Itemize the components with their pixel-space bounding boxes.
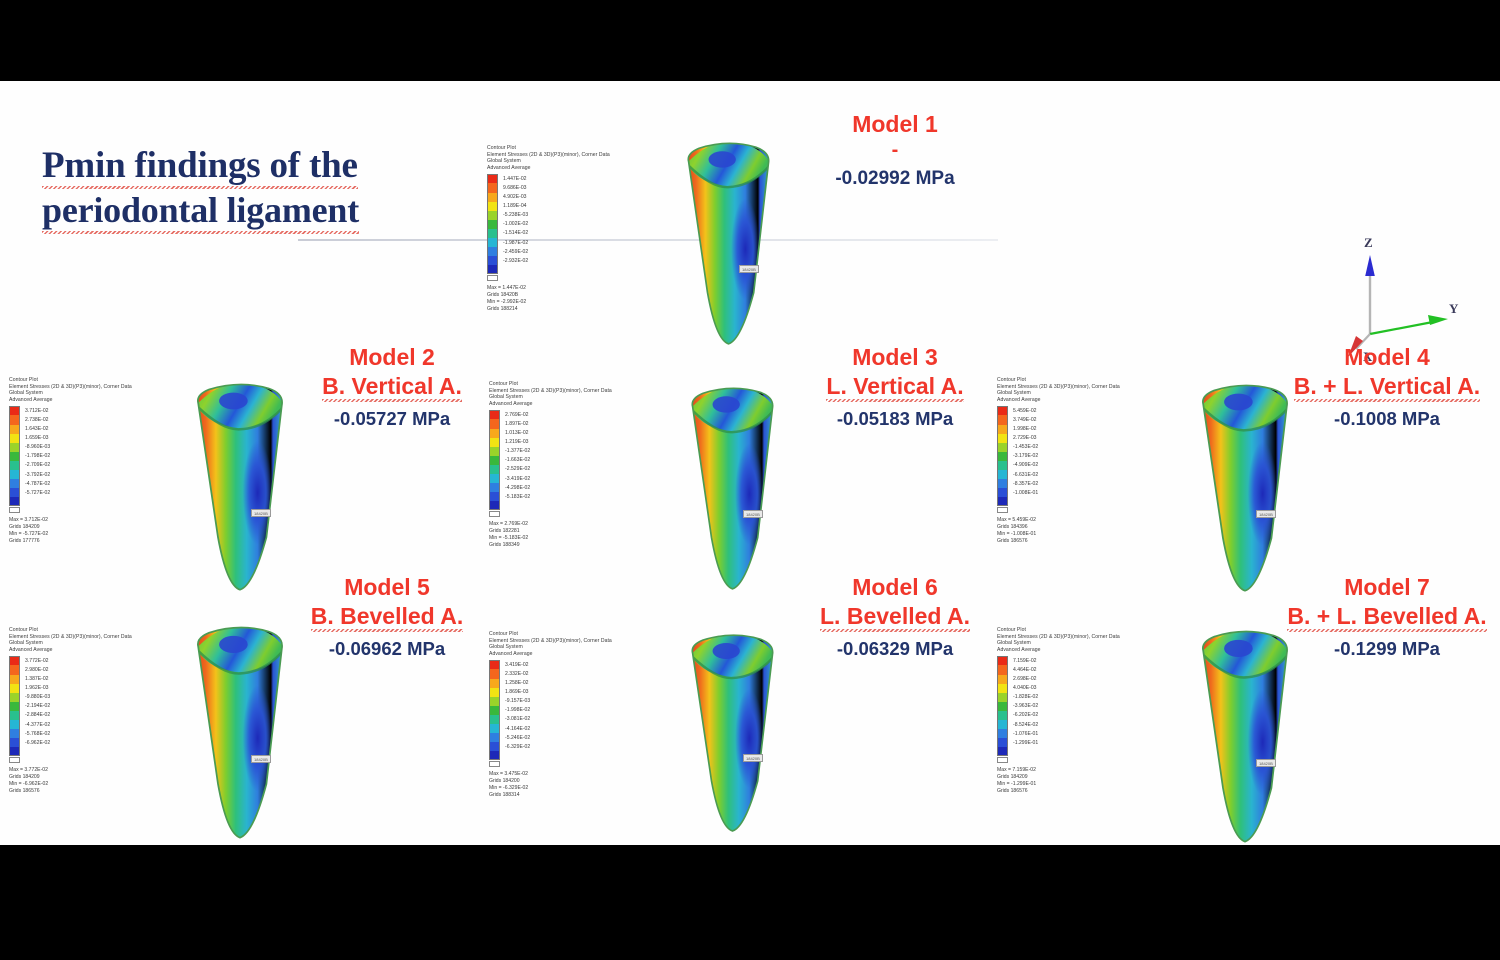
legend-max-grid: Grids 184209: [9, 774, 125, 781]
legend-value: -1.514E-02: [503, 230, 528, 236]
legend-swatch: [489, 474, 500, 483]
legend-swatch: [9, 729, 20, 738]
legend-scale-row: -4.164E-02: [489, 724, 605, 733]
legend-color-scale: 3.419E-02 2.332E-02 1.258E-02 1.869E-03 …: [489, 660, 605, 760]
legend-swatch: [487, 265, 498, 274]
tooth-contour-svg: [676, 139, 781, 349]
legend-value: -1.076E-01: [1013, 731, 1038, 737]
legend-swatch: [9, 665, 20, 674]
legend-header-advanced-average: Advanced Average: [997, 397, 1113, 404]
legend-value: -2.709E-02: [25, 462, 50, 468]
legend-value: -4.298E-02: [505, 485, 530, 491]
legend-swatch: [487, 174, 498, 183]
model-stress-value: -0.02992 MPa: [790, 166, 1000, 192]
legend-scale-row: -1.663E-02: [489, 456, 605, 465]
legend-scale-row: 1.447E-02: [487, 174, 603, 183]
legend-swatch: [9, 470, 20, 479]
tooth-min-node-tag: 18420B: [251, 509, 271, 517]
legend-value: 1.643E-02: [25, 426, 49, 432]
legend-swatch: [487, 220, 498, 229]
legend-min-grid: Grids 186576: [9, 788, 125, 795]
legend-min-grid: Grids 188214: [487, 306, 603, 313]
legend-header-advanced-average: Advanced Average: [489, 651, 605, 658]
legend-scale-row: -2.932E-02: [487, 256, 603, 265]
legend-value: -1.299E-01: [1013, 740, 1038, 746]
legend-swatch: [9, 452, 20, 461]
legend-value: -6.962E-02: [25, 740, 50, 746]
legend-min-value: Min = -1.299E-01: [997, 781, 1113, 788]
legend-header-element-stresses: Element Stresses (2D & 3D)(P3)(minor), C…: [997, 384, 1113, 391]
tooth-contour-model-1: 18420B: [676, 139, 781, 349]
legend-swatch: [9, 675, 20, 684]
legend-value: -3.179E-02: [1013, 453, 1038, 459]
legend-scale-row: 5.459E-02: [997, 406, 1113, 415]
legend-value: 3.772E-02: [25, 658, 49, 664]
title-text-1: Pmin findings of the: [42, 143, 358, 188]
legend-value: -1.453E-02: [1013, 444, 1038, 450]
legend-scale-row: -1.798E-02: [9, 452, 125, 461]
legend-value: 1.447E-02: [503, 176, 527, 182]
legend-max-value: Max = 7.159E-02: [997, 767, 1113, 774]
legend-swatch: [997, 434, 1008, 443]
legend-swatch: [997, 497, 1008, 506]
contour-legend-model-3: Contour PlotElement Stresses (2D & 3D)(P…: [489, 381, 605, 549]
legend-value: 1.659E-03: [25, 435, 49, 441]
legend-color-scale: 7.159E-02 4.464E-02 2.698E-02 4.040E-03 …: [997, 656, 1113, 756]
legend-footer: Max = 1.447E-02 Grids 18420B Min = -2.99…: [487, 285, 603, 313]
legend-scale-row: 2.729E-03: [997, 434, 1113, 443]
legend-swatch: [9, 738, 20, 747]
legend-swatch: [997, 443, 1008, 452]
legend-scale-row: [9, 747, 125, 756]
model-subtitle: -: [790, 139, 1000, 161]
legend-scale-row: 2.332E-02: [489, 669, 605, 678]
legend-swatch: [997, 747, 1008, 756]
model-label-model-5: Model 5 B. Bevelled A. -0.06962 MPa: [272, 573, 502, 662]
legend-value: -3.792E-02: [25, 472, 50, 478]
legend-max-grid: Grids 184209: [997, 774, 1113, 781]
legend-min-grid: Grids 188314: [489, 792, 605, 799]
model-subtitle: B. Vertical A.: [287, 372, 497, 401]
tooth-contour-svg: [185, 380, 295, 595]
legend-header-advanced-average: Advanced Average: [489, 401, 605, 408]
legend-scale-row: -5.246E-02: [489, 733, 605, 742]
legend-min-value: Min = -1.008E-01: [997, 531, 1113, 538]
tooth-contour-svg: [680, 384, 785, 594]
legend-value: 2.729E-03: [1013, 435, 1037, 441]
legend-value: -1.998E-02: [505, 707, 530, 713]
legend-scale-row: [997, 497, 1113, 506]
title-line-1: Pmin findings of the: [42, 143, 358, 188]
model-stress-value: -0.06329 MPa: [790, 636, 1000, 662]
legend-footer: Max = 3.712E-02 Grids 184209 Min = -5.72…: [9, 517, 125, 545]
tooth-contour-model-2: 18420B: [185, 380, 295, 595]
legend-swatch: [489, 669, 500, 678]
legend-scale-row: -1.076E-01: [997, 729, 1113, 738]
legend-value: -2.529E-02: [505, 466, 530, 472]
legend-header-global-system: Global System: [997, 640, 1113, 647]
legend-swatch: [9, 656, 20, 665]
legend-header-contour-plot: Contour Plot: [997, 377, 1113, 384]
legend-scale-row: -5.183E-02: [489, 492, 605, 501]
legend-swatch: [997, 711, 1008, 720]
legend-color-scale: 2.769E-02 1.897E-02 1.013E-02 1.219E-03 …: [489, 410, 605, 510]
legend-max-value: Max = 5.459E-02: [997, 517, 1113, 524]
legend-value: -3.419E-02: [505, 476, 530, 482]
title-line-2: periodontal ligament: [42, 188, 359, 233]
legend-value: -1.987E-02: [503, 240, 528, 246]
legend-color-scale: 3.712E-02 2.738E-02 1.643E-02 1.659E-03 …: [9, 406, 125, 506]
legend-scale-row: [487, 265, 603, 274]
legend-min-grid: Grids 186576: [997, 788, 1113, 795]
legend-scale-row: -1.377E-02: [489, 447, 605, 456]
slide-canvas: Pmin findings of the periodontal ligamen…: [0, 81, 1500, 845]
legend-value: 2.769E-02: [505, 412, 529, 418]
contour-legend-model-2: Contour PlotElement Stresses (2D & 3D)(P…: [9, 377, 125, 545]
legend-swatch: [997, 656, 1008, 665]
legend-scale-row: [9, 497, 125, 506]
legend-value: 7.159E-02: [1013, 658, 1037, 664]
legend-header-advanced-average: Advanced Average: [9, 397, 125, 404]
legend-scale-row: -1.828E-02: [997, 693, 1113, 702]
legend-swatch: [9, 684, 20, 693]
legend-value: -4.787E-02: [25, 481, 50, 487]
legend-value: -8.524E-02: [1013, 722, 1038, 728]
legend-scale-row: -6.202E-02: [997, 711, 1113, 720]
legend-header-global-system: Global System: [487, 158, 603, 165]
legend-value: 1.219E-03: [505, 439, 529, 445]
legend-max-value: Max = 2.769E-02: [489, 521, 605, 528]
legend-value: 2.698E-02: [1013, 676, 1037, 682]
tooth-min-node-tag: 18420B: [1256, 510, 1276, 518]
legend-swatch: [489, 733, 500, 742]
legend-scale-row: 1.998E-02: [997, 425, 1113, 434]
legend-scale-end: [9, 756, 125, 764]
legend-scale-row: -1.998E-02: [489, 706, 605, 715]
legend-scale-row: 1.659E-03: [9, 434, 125, 443]
slide-title: Pmin findings of the periodontal ligamen…: [42, 143, 472, 233]
legend-scale-row: -2.529E-02: [489, 465, 605, 474]
legend-value: 4.464E-02: [1013, 667, 1037, 673]
legend-value: 1.387E-02: [25, 676, 49, 682]
legend-scale-row: -8.357E-02: [997, 479, 1113, 488]
legend-swatch: [489, 751, 500, 760]
legend-footer: Max = 7.159E-02 Grids 184209 Min = -1.29…: [997, 767, 1113, 795]
legend-scale-end: [997, 506, 1113, 514]
legend-scale-row: -2.709E-02: [9, 461, 125, 470]
legend-value: -2.932E-02: [503, 258, 528, 264]
legend-scale-row: 3.772E-02: [9, 656, 125, 665]
tooth-contour-model-6: 18420B: [680, 631, 785, 836]
legend-scale-row: -5.727E-02: [9, 488, 125, 497]
legend-value: 3.749E-02: [1013, 417, 1037, 423]
legend-value: -1.798E-02: [25, 453, 50, 459]
model-label-model-7: Model 7 B. + L. Bevelled A. -0.1299 MPa: [1262, 573, 1500, 662]
legend-max-value: Max = 3.772E-02: [9, 767, 125, 774]
legend-scale-end: [487, 274, 603, 282]
legend-max-value: Max = 1.447E-02: [487, 285, 603, 292]
model-name: Model 2: [287, 343, 497, 372]
legend-value: -3.081E-02: [505, 716, 530, 722]
legend-swatch: [489, 501, 500, 510]
legend-value: 2.738E-02: [25, 417, 49, 423]
contour-legend-model-4: Contour PlotElement Stresses (2D & 3D)(P…: [997, 377, 1113, 545]
tooth-min-node-tag: 18420B: [1256, 759, 1276, 767]
legend-scale-row: 2.980E-02: [9, 665, 125, 674]
legend-scale-row: 1.219E-03: [489, 438, 605, 447]
legend-footer: Max = 3.475E-02 Grids 184200 Min = -6.32…: [489, 771, 605, 799]
contour-legend-model-7: Contour PlotElement Stresses (2D & 3D)(P…: [997, 627, 1113, 795]
legend-value: -1.377E-02: [505, 448, 530, 454]
legend-min-grid: Grids 188349: [489, 542, 605, 549]
legend-header-global-system: Global System: [489, 394, 605, 401]
legend-scale-row: -2.884E-02: [9, 711, 125, 720]
legend-scale-row: -9.880E-03: [9, 693, 125, 702]
legend-min-grid: Grids 186576: [997, 538, 1113, 545]
model-label-model-3: Model 3 L. Vertical A. -0.05183 MPa: [790, 343, 1000, 432]
legend-swatch: [997, 684, 1008, 693]
legend-color-scale: 3.772E-02 2.980E-02 1.387E-02 1.962E-03 …: [9, 656, 125, 756]
legend-value: 9.686E-03: [503, 185, 527, 191]
contour-legend-model-6: Contour PlotElement Stresses (2D & 3D)(P…: [489, 631, 605, 799]
legend-scale-row: -1.299E-01: [997, 738, 1113, 747]
legend-swatch: [997, 702, 1008, 711]
legend-value: -8.960E-03: [25, 444, 50, 450]
legend-value: 2.980E-02: [25, 667, 49, 673]
legend-header-global-system: Global System: [489, 644, 605, 651]
model-name: Model 4: [1272, 343, 1500, 372]
legend-scale-row: 1.189E-04: [487, 202, 603, 211]
legend-header-contour-plot: Contour Plot: [9, 627, 125, 634]
legend-scale-row: 9.686E-03: [487, 183, 603, 192]
legend-min-value: Min = -5.727E-02: [9, 531, 125, 538]
legend-scale-end: [9, 506, 125, 514]
legend-scale-row: -1.514E-02: [487, 229, 603, 238]
model-name: Model 7: [1262, 573, 1500, 602]
legend-swatch: [489, 706, 500, 715]
legend-scale-row: 4.464E-02: [997, 665, 1113, 674]
legend-swatch: [9, 720, 20, 729]
legend-swatch: [489, 438, 500, 447]
legend-scale-row: -5.238E-03: [487, 211, 603, 220]
legend-swatch: [997, 665, 1008, 674]
tooth-min-node-tag: 18420B: [251, 755, 271, 763]
legend-scale-end: [489, 510, 605, 518]
legend-swatch: [489, 429, 500, 438]
legend-value: 4.902E-03: [503, 194, 527, 200]
legend-swatch: [997, 470, 1008, 479]
legend-scale-row: 1.869E-03: [489, 688, 605, 697]
legend-swatch: [997, 720, 1008, 729]
legend-header-element-stresses: Element Stresses (2D & 3D)(P3)(minor), C…: [489, 388, 605, 395]
legend-swatch: [489, 724, 500, 733]
legend-scale-row: [997, 747, 1113, 756]
legend-swatch: [9, 461, 20, 470]
legend-swatch: [9, 747, 20, 756]
legend-value: 1.962E-03: [25, 685, 49, 691]
legend-value: -6.329E-02: [505, 744, 530, 750]
legend-scale-row: -4.909E-02: [997, 461, 1113, 470]
legend-swatch: [997, 479, 1008, 488]
legend-header-global-system: Global System: [9, 640, 125, 647]
legend-swatch: [487, 247, 498, 256]
legend-scale-row: -3.792E-02: [9, 470, 125, 479]
contour-legend-model-5: Contour PlotElement Stresses (2D & 3D)(P…: [9, 627, 125, 795]
legend-scale-row: 4.902E-03: [487, 193, 603, 202]
legend-swatch: [489, 697, 500, 706]
legend-header-global-system: Global System: [9, 390, 125, 397]
legend-scale-row: -8.960E-03: [9, 443, 125, 452]
legend-value: -1.828E-02: [1013, 694, 1038, 700]
legend-scale-row: 1.258E-02: [489, 679, 605, 688]
legend-value: 1.258E-02: [505, 680, 529, 686]
legend-max-value: Max = 3.475E-02: [489, 771, 605, 778]
legend-scale-row: -9.157E-03: [489, 697, 605, 706]
legend-value: -5.246E-02: [505, 735, 530, 741]
model-name: Model 3: [790, 343, 1000, 372]
legend-scale-row: 7.159E-02: [997, 656, 1113, 665]
legend-swatch: [487, 238, 498, 247]
model-stress-value: -0.1299 MPa: [1262, 636, 1500, 662]
legend-swatch: [997, 452, 1008, 461]
legend-swatch: [9, 425, 20, 434]
legend-swatch: [9, 702, 20, 711]
legend-scale-row: 1.013E-02: [489, 429, 605, 438]
legend-color-scale: 1.447E-02 9.686E-03 4.902E-03 1.189E-04 …: [487, 174, 603, 274]
model-subtitle: B. + L. Bevelled A.: [1262, 602, 1500, 631]
legend-value: -5.768E-02: [25, 731, 50, 737]
legend-swatch: [489, 660, 500, 669]
legend-header-contour-plot: Contour Plot: [489, 631, 605, 638]
legend-scale-row: 2.769E-02: [489, 410, 605, 419]
legend-value: 2.332E-02: [505, 671, 529, 677]
legend-value: -9.880E-03: [25, 694, 50, 700]
model-stress-value: -0.06962 MPa: [272, 636, 502, 662]
tooth-min-node-tag: 18420B: [743, 754, 763, 762]
legend-value: 4.040E-03: [1013, 685, 1037, 691]
legend-swatch: [489, 483, 500, 492]
model-name: Model 6: [790, 573, 1000, 602]
legend-swatch: [489, 688, 500, 697]
legend-scale-row: -1.987E-02: [487, 238, 603, 247]
tooth-contour-svg: [680, 631, 785, 836]
legend-scale-row: -8.524E-02: [997, 720, 1113, 729]
model-stress-value: -0.05727 MPa: [287, 406, 497, 432]
legend-header-element-stresses: Element Stresses (2D & 3D)(P3)(minor), C…: [9, 634, 125, 641]
legend-scale-row: -2.194E-02: [9, 702, 125, 711]
legend-value: -1.663E-02: [505, 457, 530, 463]
legend-header-element-stresses: Element Stresses (2D & 3D)(P3)(minor), C…: [487, 152, 603, 159]
legend-value: -2.459E-02: [503, 249, 528, 255]
legend-header-global-system: Global System: [997, 390, 1113, 397]
legend-swatch: [997, 415, 1008, 424]
legend-value: -2.884E-02: [25, 712, 50, 718]
legend-swatch: [487, 211, 498, 220]
legend-swatch: [487, 193, 498, 202]
model-label-model-6: Model 6 L. Bevelled A. -0.06329 MPa: [790, 573, 1000, 662]
legend-value: 1.869E-03: [505, 689, 529, 695]
legend-value: -4.909E-02: [1013, 462, 1038, 468]
legend-scale-row: 2.698E-02: [997, 675, 1113, 684]
legend-footer: Max = 3.772E-02 Grids 184209 Min = -6.96…: [9, 767, 125, 795]
legend-value: 1.189E-04: [503, 203, 527, 209]
legend-min-grid: Grids 177776: [9, 538, 125, 545]
legend-header-contour-plot: Contour Plot: [489, 381, 605, 388]
legend-header-advanced-average: Advanced Average: [997, 647, 1113, 654]
legend-scale-row: -3.419E-02: [489, 474, 605, 483]
legend-swatch: [9, 479, 20, 488]
title-text-2: periodontal ligament: [42, 188, 359, 233]
legend-scale-row: -6.962E-02: [9, 738, 125, 747]
legend-max-grid: Grids 184396: [997, 524, 1113, 531]
legend-swatch: [997, 729, 1008, 738]
legend-value: -8.357E-02: [1013, 481, 1038, 487]
legend-scale-row: -4.377E-02: [9, 720, 125, 729]
legend-value: -5.727E-02: [25, 490, 50, 496]
legend-header-contour-plot: Contour Plot: [9, 377, 125, 384]
legend-scale-end: [489, 760, 605, 768]
legend-scale-row: -6.329E-02: [489, 742, 605, 751]
legend-swatch: [487, 183, 498, 192]
legend-swatch: [997, 675, 1008, 684]
legend-swatch: [489, 679, 500, 688]
legend-scale-row: 2.738E-02: [9, 415, 125, 424]
legend-scale-row: -2.459E-02: [487, 247, 603, 256]
legend-min-value: Min = -6.329E-02: [489, 785, 605, 792]
axis-label-z: Z: [1364, 235, 1373, 250]
legend-swatch: [489, 465, 500, 474]
legend-value: -5.238E-03: [503, 212, 528, 218]
legend-value: -1.002E-02: [503, 221, 528, 227]
legend-scale-row: -3.081E-02: [489, 715, 605, 724]
legend-swatch: [489, 715, 500, 724]
legend-max-value: Max = 3.712E-02: [9, 517, 125, 524]
legend-swatch: [489, 447, 500, 456]
model-name: Model 1: [790, 110, 1000, 139]
legend-swatch: [9, 443, 20, 452]
legend-swatch: [489, 742, 500, 751]
tooth-min-node-tag: 18420B: [739, 265, 759, 273]
legend-header-advanced-average: Advanced Average: [487, 165, 603, 172]
legend-swatch: [997, 425, 1008, 434]
legend-color-scale: 5.459E-02 3.749E-02 1.998E-02 2.729E-03 …: [997, 406, 1113, 506]
legend-value: -5.183E-02: [505, 494, 530, 500]
legend-swatch: [489, 456, 500, 465]
legend-header-advanced-average: Advanced Average: [9, 647, 125, 654]
legend-scale-row: -1.453E-02: [997, 443, 1113, 452]
legend-max-grid: Grids 184209: [9, 524, 125, 531]
legend-max-grid: Grids 182281: [489, 528, 605, 535]
legend-value: -1.008E-01: [1013, 490, 1038, 496]
legend-header-contour-plot: Contour Plot: [487, 145, 603, 152]
legend-value: -6.202E-02: [1013, 712, 1038, 718]
legend-scale-row: [489, 751, 605, 760]
legend-scale-row: -3.179E-02: [997, 452, 1113, 461]
legend-header-contour-plot: Contour Plot: [997, 627, 1113, 634]
legend-scale-row: 3.749E-02: [997, 415, 1113, 424]
legend-header-element-stresses: Element Stresses (2D & 3D)(P3)(minor), C…: [997, 634, 1113, 641]
legend-scale-row: [489, 501, 605, 510]
legend-value: 1.897E-02: [505, 421, 529, 427]
legend-min-value: Min = -6.962E-02: [9, 781, 125, 788]
legend-scale-row: 1.643E-02: [9, 425, 125, 434]
legend-value: 3.419E-02: [505, 662, 529, 668]
legend-value: 1.013E-02: [505, 430, 529, 436]
legend-swatch: [487, 229, 498, 238]
legend-scale-row: -1.008E-01: [997, 488, 1113, 497]
legend-swatch: [9, 488, 20, 497]
legend-scale-row: -6.631E-02: [997, 470, 1113, 479]
